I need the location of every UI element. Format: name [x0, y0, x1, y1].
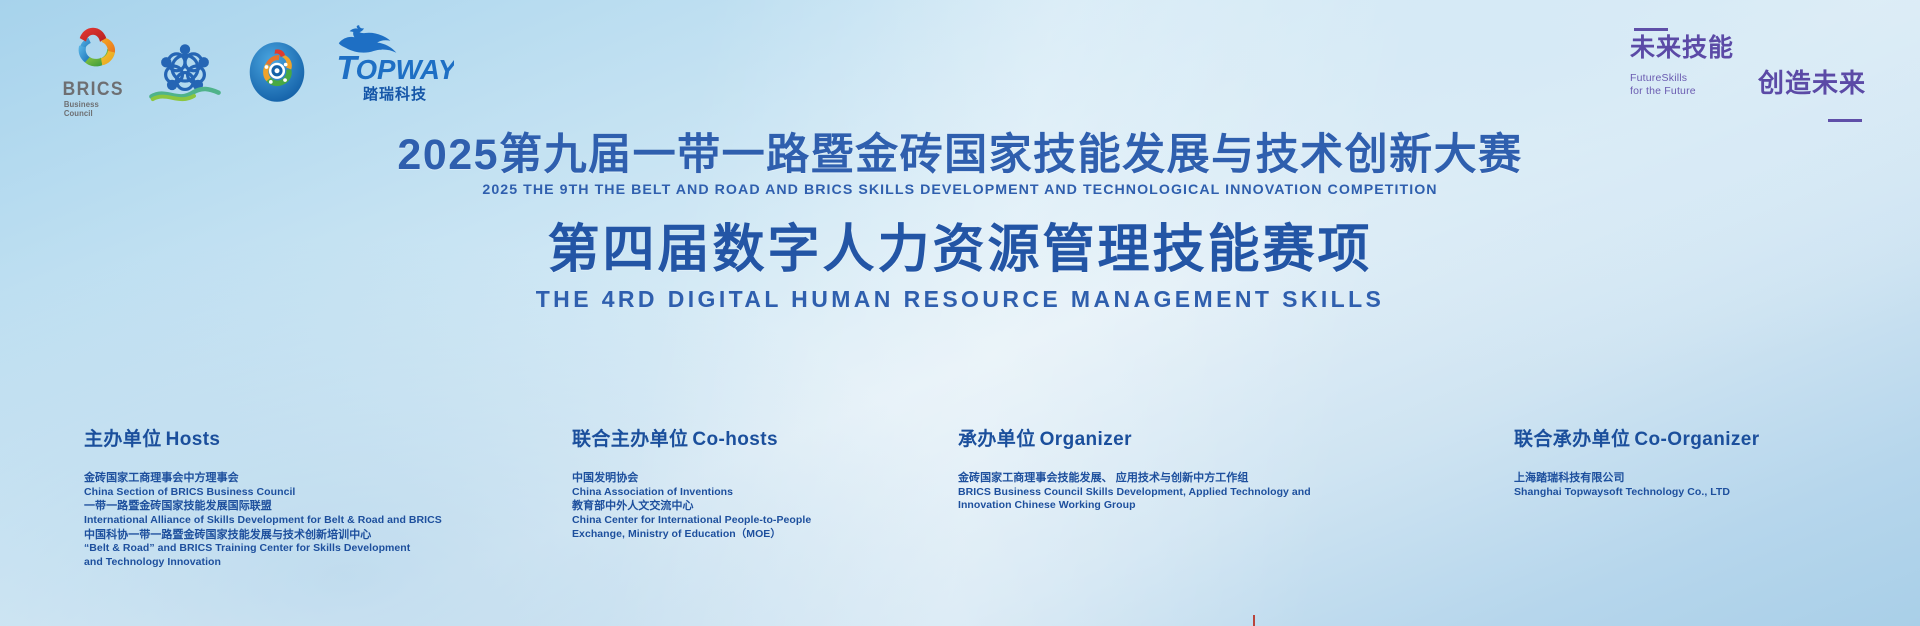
topway-logo: T OPWAY 踏瑞科技 — [334, 25, 454, 120]
organizer-entry: 中国科协一带一路暨金砖国家技能发展与技术创新培训中心 — [84, 528, 514, 543]
brics-business-council-logo: BRICS Business Council — [62, 26, 124, 117]
slogan-rule-bottom — [1828, 119, 1862, 122]
skills-emblem-icon — [246, 41, 308, 103]
organizer-heading-en: Hosts — [166, 429, 221, 450]
organizer-heading: 承办单位Organizer — [958, 430, 1378, 449]
organizer-entry: 中国发明协会 — [572, 471, 972, 486]
logo-strip: BRICS Business Council — [62, 36, 454, 108]
organizer-column-hosts: 主办单位Hosts 金砖国家工商理事会中方理事会 China Section o… — [84, 430, 514, 570]
future-skills-slogan: 未来技能 FutureSkillsfor the Future 创造未来 — [1628, 26, 1868, 122]
organizer-heading-cn: 联合主办单位 — [572, 429, 688, 450]
organizer-entry-list: 中国发明协会 China Association of Inventions 教… — [572, 471, 972, 542]
organizer-entry: International Alliance of Skills Develop… — [84, 514, 514, 528]
organizer-heading: 联合主办单位Co-hosts — [572, 430, 972, 449]
organizer-heading-en: Organizer — [1040, 429, 1132, 450]
organizer-entry: China Section of BRICS Business Council — [84, 486, 514, 500]
alliance-knot-icon — [146, 41, 224, 103]
skills-competition-emblem-logo — [246, 41, 308, 103]
brics-star-icon — [64, 26, 122, 78]
organizer-entry-list: 金砖国家工商理事会技能发展、 应用技术与创新中方工作组 BRICS Busine… — [958, 471, 1378, 513]
organizer-entry: 教育部中外人文交流中心 — [572, 499, 972, 514]
organizer-entry: China Association of Inventions — [572, 486, 972, 500]
slogan-rule-top — [1634, 28, 1668, 31]
organizer-entry: “Belt & Road” and BRICS Training Center … — [84, 542, 514, 556]
slogan-en-line1: FutureSkills — [1630, 72, 1687, 84]
organizer-entry: 一带一路暨金砖国家技能发展国际联盟 — [84, 499, 514, 514]
organizer-heading-en: Co-hosts — [692, 429, 778, 450]
organizer-entry: Innovation Chinese Working Group — [958, 499, 1378, 513]
event-title-en: THE 4RD DIGITAL HUMAN RESOURCE MANAGEMEN… — [0, 287, 1920, 312]
slogan-en-line2: for the Future — [1630, 85, 1696, 97]
organizer-column-organizer: 承办单位Organizer 金砖国家工商理事会技能发展、 应用技术与创新中方工作… — [958, 430, 1378, 513]
slogan-cn-line2: 创造未来 — [1758, 70, 1866, 96]
organizer-heading-cn: 联合承办单位 — [1514, 429, 1630, 450]
organizer-entry: 上海踏瑞科技有限公司 — [1514, 471, 1914, 486]
organizer-entry: 金砖国家工商理事会中方理事会 — [84, 471, 514, 486]
organizer-entry: BRICS Business Council Skills Developmen… — [958, 486, 1378, 500]
svg-text:OPWAY: OPWAY — [356, 54, 454, 83]
organizer-heading-cn: 承办单位 — [958, 429, 1036, 450]
topway-dragon-icon: T OPWAY — [334, 25, 454, 83]
slogan-cn-line1: 未来技能 — [1630, 36, 1734, 61]
organizer-entry: 金砖国家工商理事会技能发展、 应用技术与创新中方工作组 — [958, 471, 1378, 486]
brics-wordmark: BRICS — [62, 80, 123, 99]
bottom-tick-mark — [1253, 615, 1255, 626]
organizer-entry: Shanghai Topwaysoft Technology Co., LTD — [1514, 486, 1914, 500]
organizer-column-coorganizer: 联合承办单位Co-Organizer 上海踏瑞科技有限公司 Shanghai T… — [1514, 430, 1914, 499]
slogan-en-lines: FutureSkillsfor the Future — [1630, 72, 1696, 99]
organizer-heading: 主办单位Hosts — [84, 430, 514, 449]
organizer-columns: 主办单位Hosts 金砖国家工商理事会中方理事会 China Section o… — [0, 430, 1920, 620]
brics-subtitle: Business Council — [64, 101, 122, 117]
organizer-entry: China Center for International People-to… — [572, 514, 972, 528]
title-block: 2025第九届一带一路暨金砖国家技能发展与技术创新大赛 2025 THE 9TH… — [0, 132, 1920, 313]
event-title-cn: 第四届数字人力资源管理技能赛项 — [0, 222, 1920, 278]
poster-canvas: BRICS Business Council — [0, 0, 1920, 626]
organizer-entry: and Technology Innovation — [84, 556, 514, 570]
belt-and-road-alliance-logo — [146, 41, 224, 103]
organizer-column-cohosts: 联合主办单位Co-hosts 中国发明协会 China Association … — [572, 430, 972, 542]
organizer-heading-en: Co-Organizer — [1634, 429, 1759, 450]
organizer-heading: 联合承办单位Co-Organizer — [1514, 430, 1914, 449]
organizer-heading-cn: 主办单位 — [84, 429, 162, 450]
competition-title-en: 2025 THE 9TH THE BELT AND ROAD AND BRICS… — [0, 183, 1920, 199]
topway-chinese-name: 踏瑞科技 — [363, 83, 427, 104]
organizer-entry-list: 金砖国家工商理事会中方理事会 China Section of BRICS Bu… — [84, 471, 514, 570]
organizer-entry: Exchange, Ministry of Education（MOE） — [572, 528, 972, 542]
competition-title-cn: 2025第九届一带一路暨金砖国家技能发展与技术创新大赛 — [0, 132, 1920, 178]
organizer-entry-list: 上海踏瑞科技有限公司 Shanghai Topwaysoft Technolog… — [1514, 471, 1914, 499]
